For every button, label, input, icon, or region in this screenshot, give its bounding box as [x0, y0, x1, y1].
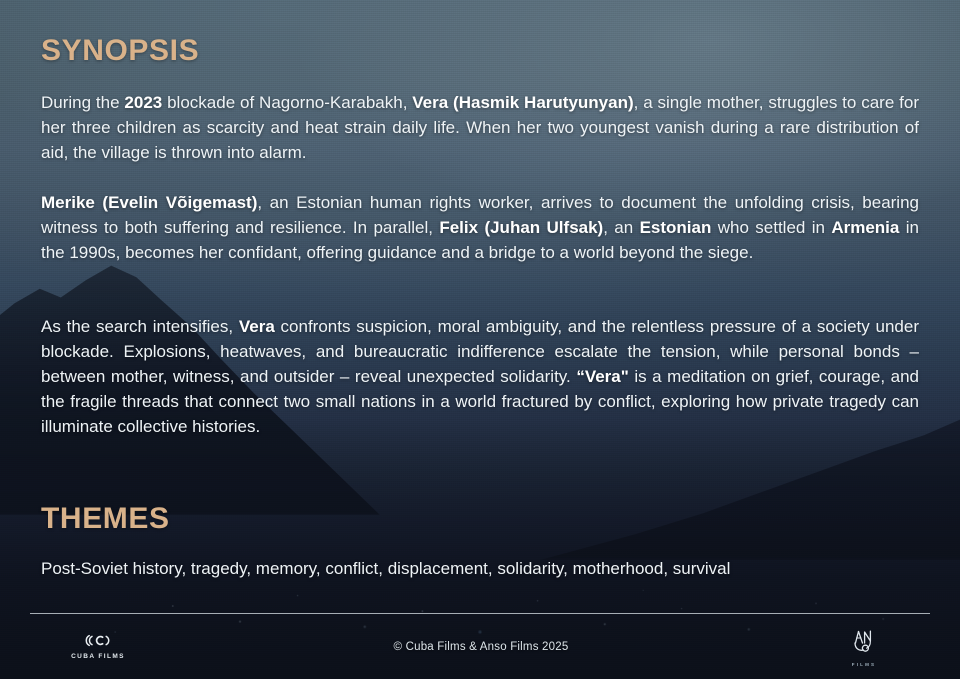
- emphasised-text: 2023: [124, 93, 162, 112]
- slide-footer: CUBA FILMS © Cuba Films & Anso Films 202…: [30, 614, 930, 679]
- anso-films-wordmark: FILMS: [852, 662, 877, 667]
- body-text: As the search intensifies,: [41, 317, 239, 336]
- cuba-films-logo-icon: [85, 634, 111, 651]
- emphasised-text: Armenia: [831, 218, 899, 237]
- synopsis-paragraph-3: As the search intensifies, Vera confront…: [41, 314, 919, 439]
- emphasised-text: Vera (Hasmik Harutyunyan): [412, 93, 633, 112]
- synopsis-paragraph-1: During the 2023 blockade of Nagorno-Kara…: [41, 90, 919, 165]
- emphasised-text: Felix (Juhan Ulfsak): [439, 218, 603, 237]
- slide-content: SYNOPSIS During the 2023 blockade of Nag…: [0, 0, 960, 679]
- emphasised-text: Merike (Evelin Võigemast): [41, 193, 257, 212]
- body-text: blockade of Nagorno-Karabakh,: [162, 93, 412, 112]
- emphasised-text: Estonian: [640, 218, 712, 237]
- emphasised-text: “Vera": [576, 367, 629, 386]
- synopsis-heading: SYNOPSIS: [41, 36, 199, 66]
- body-text: , an: [603, 218, 639, 237]
- themes-heading: THEMES: [41, 504, 170, 534]
- body-text: During the: [41, 93, 124, 112]
- cuba-films-wordmark: CUBA FILMS: [71, 653, 125, 660]
- anso-films-logo: FILMS: [804, 626, 924, 667]
- synopsis-paragraph-2: Merike (Evelin Võigemast), an Estonian h…: [41, 190, 919, 265]
- anso-films-logo-icon: [849, 626, 879, 660]
- synopsis-slide: SYNOPSIS During the 2023 blockade of Nag…: [0, 0, 960, 679]
- body-text: who settled in: [711, 218, 831, 237]
- emphasised-text: Vera: [239, 317, 275, 336]
- copyright-text: © Cuba Films & Anso Films 2025: [394, 641, 569, 653]
- cuba-films-logo: CUBA FILMS: [38, 634, 158, 660]
- themes-list: Post-Soviet history, tragedy, memory, co…: [41, 556, 919, 581]
